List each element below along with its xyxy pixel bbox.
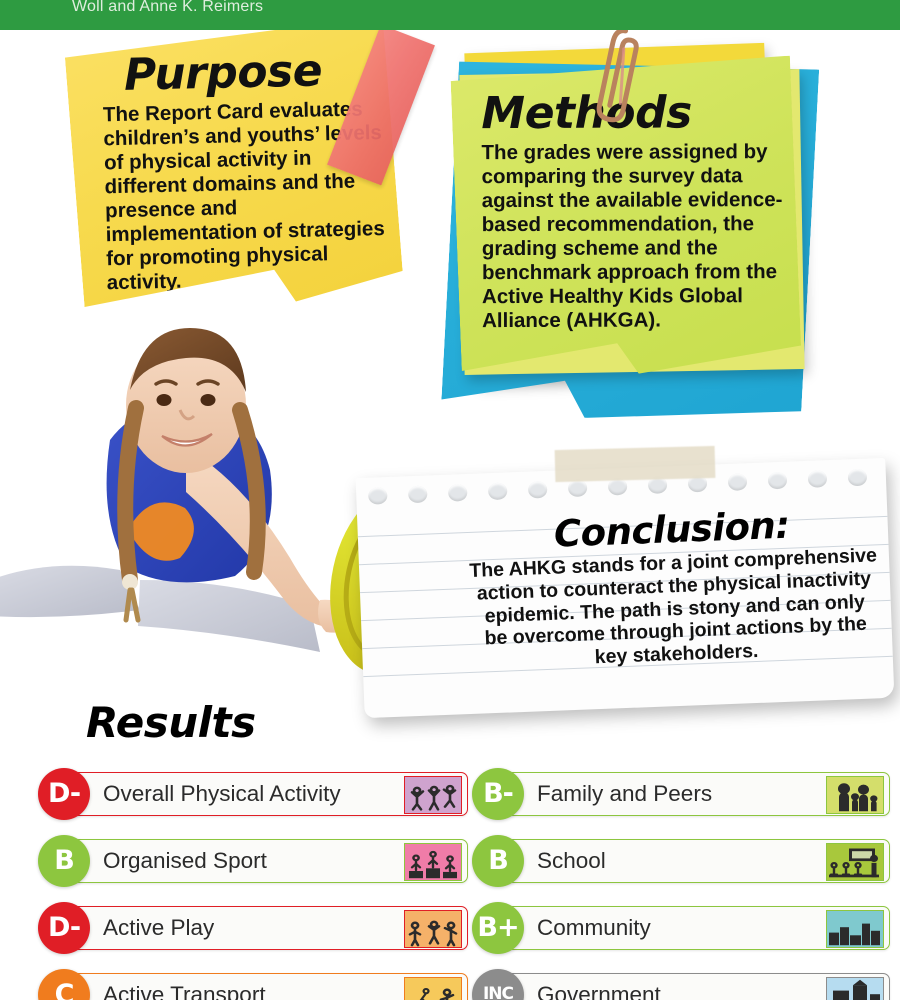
grade-card[interactable]: Government <box>500 973 890 1000</box>
grade-card-label: Active Transport <box>103 982 266 1000</box>
results-right-column: Family and Peers B-School BCommunity <box>472 768 890 1000</box>
grade-card-label: Government <box>537 982 661 1000</box>
grade-card[interactable]: School <box>500 839 890 883</box>
classroom-icon <box>826 843 884 881</box>
header-authors: Woll and Anne K. Reimers <box>72 0 263 16</box>
conclusion-paper: Conclusion: The AHKG stands for a joint … <box>356 458 895 718</box>
grade-card-label: School <box>537 848 606 874</box>
grade-row[interactable]: Family and Peers B- <box>472 768 890 820</box>
grade-badge: B <box>38 835 90 887</box>
grade-row[interactable]: Active Play D- <box>38 902 468 954</box>
grade-badge-value: B- <box>483 778 513 809</box>
grade-badge: B+ <box>472 902 524 954</box>
family-icon <box>826 776 884 814</box>
grade-card[interactable]: Community <box>500 906 890 950</box>
grade-badge: B <box>472 835 524 887</box>
grade-badge-value: B <box>488 845 508 876</box>
grade-card[interactable]: Family and Peers <box>500 772 890 816</box>
grade-card[interactable]: Organised Sport <box>66 839 468 883</box>
grade-badge-value: D- <box>48 778 80 809</box>
infographic-poster: Woll and Anne K. Reimers Purpose The Rep… <box>0 0 900 1000</box>
cityscape-icon <box>826 910 884 948</box>
grade-row[interactable]: Organised Sport B <box>38 835 468 887</box>
grade-badge: D- <box>38 902 90 954</box>
grade-row[interactable]: Overall Physical Activity D- <box>38 768 468 820</box>
grade-row[interactable]: Community B+ <box>472 902 890 954</box>
grade-row[interactable]: Active Transport C <box>38 969 468 1000</box>
grade-badge-value: INC <box>483 984 513 1000</box>
grade-card-label: Organised Sport <box>103 848 267 874</box>
grade-badge-value: B+ <box>477 912 518 943</box>
grade-card[interactable]: Overall Physical Activity <box>66 772 468 816</box>
grade-card-label: Community <box>537 915 651 941</box>
purpose-title: Purpose <box>124 44 385 101</box>
grade-badge: B- <box>472 768 524 820</box>
results-left-column: Overall Physical Activity D-Organised Sp… <box>38 768 468 1000</box>
results-title: Results <box>86 698 256 747</box>
grade-row[interactable]: Government INC <box>472 969 890 1000</box>
grade-card-label: Active Play <box>103 915 214 941</box>
conclusion-tape-strip <box>555 446 716 482</box>
conclusion-content: Conclusion: The AHKG stands for a joint … <box>467 500 881 674</box>
methods-paragraph: The grades were assigned by comparing th… <box>481 141 792 334</box>
grade-card-label: Family and Peers <box>537 781 712 807</box>
grade-badge-value: C <box>55 979 74 1000</box>
grade-badge-value: B <box>54 845 74 876</box>
grade-card[interactable]: Active Transport <box>66 973 468 1000</box>
grade-badge: D- <box>38 768 90 820</box>
grade-badge-value: D- <box>48 912 80 943</box>
children-playing-icon <box>404 910 462 948</box>
grade-card-label: Overall Physical Activity <box>103 781 341 807</box>
podium-athletes-icon <box>404 843 462 881</box>
header-band: Woll and Anne K. Reimers <box>0 0 900 30</box>
government-icon <box>826 977 884 1000</box>
conclusion-paragraph: The AHKG stands for a joint comprehensiv… <box>469 544 881 674</box>
grade-row[interactable]: School B <box>472 835 890 887</box>
jumping-children-icon <box>404 776 462 814</box>
cycling-walking-icon <box>404 977 462 1000</box>
grade-card[interactable]: Active Play <box>66 906 468 950</box>
